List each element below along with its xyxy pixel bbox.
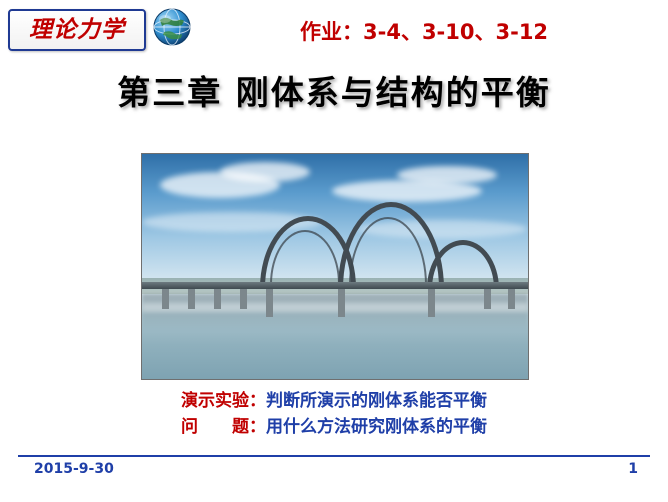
caption-body: 判断所演示的刚体系能否平衡 <box>266 391 487 411</box>
bridge-pier <box>428 289 435 317</box>
bridge-pier <box>188 289 195 309</box>
photo-water-sheen <box>142 303 528 312</box>
bridge-pier <box>338 289 345 317</box>
page-title: 第三章 刚体系与结构的平衡 <box>0 66 668 114</box>
bridge-pier <box>214 289 221 309</box>
photo-reflection <box>142 294 528 330</box>
bridge-pier <box>508 289 515 309</box>
caption-line-question: 问 题：用什么方法研究刚体系的平衡 <box>0 414 668 440</box>
bridge-pier <box>484 289 491 309</box>
caption-line-experiment: 演示实验：判断所演示的刚体系能否平衡 <box>0 388 668 414</box>
caption-body: 用什么方法研究刚体系的平衡 <box>266 417 487 437</box>
caption-label: 问 题： <box>181 417 266 437</box>
cloud <box>397 166 497 184</box>
footer-divider <box>18 455 650 457</box>
bridge-photo <box>141 153 529 380</box>
caption-label: 演示实验： <box>181 391 266 411</box>
bridge-pier <box>240 289 247 309</box>
bridge-deck <box>142 282 528 289</box>
homework-note: 作业：3-4、3-10、3-12 <box>300 16 548 46</box>
bridge-pier <box>266 289 273 317</box>
globe-icon <box>152 7 192 47</box>
footer-page-number: 1 <box>628 461 638 477</box>
course-logo-badge: 理论力学 <box>8 9 146 51</box>
bridge-pier <box>162 289 169 309</box>
caption-block: 演示实验：判断所演示的刚体系能否平衡 问 题：用什么方法研究刚体系的平衡 <box>0 388 668 440</box>
cloud <box>220 162 310 182</box>
course-logo-label: 理论力学 <box>29 19 125 42</box>
slide-header: 理论力学 作业：3-4、3-10、3-12 <box>0 0 668 57</box>
footer-date: 2015-9-30 <box>34 461 114 477</box>
